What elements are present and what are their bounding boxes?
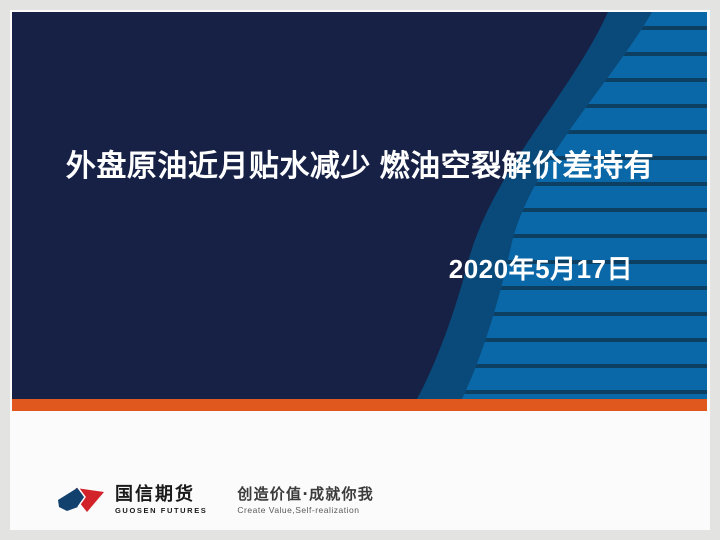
tagline-cn: 创造价值·成就你我 bbox=[237, 485, 374, 503]
footer-branding: 国信期货 GUOSEN FUTURES 创造价值·成就你我 Create Val… bbox=[56, 482, 374, 518]
accent-bar bbox=[12, 399, 707, 411]
decorative-curve-graphic bbox=[12, 12, 707, 399]
guosen-futures-logo-icon bbox=[56, 485, 106, 515]
company-wordmark: 国信期货 GUOSEN FUTURES bbox=[115, 485, 207, 516]
company-tagline: 创造价值·成就你我 Create Value,Self-realization bbox=[237, 485, 374, 516]
presentation-slide: 外盘原油近月贴水减少 燃油空裂解价差持有 2020年5月17日 国信期货 GUO… bbox=[0, 0, 720, 540]
slide-title: 外盘原油近月贴水减少 燃油空裂解价差持有 bbox=[0, 146, 720, 188]
slide-date: 2020年5月17日 bbox=[449, 252, 633, 286]
company-name-cn: 国信期货 bbox=[115, 485, 207, 505]
hero-panel bbox=[12, 12, 707, 399]
company-name-en: GUOSEN FUTURES bbox=[115, 506, 207, 516]
tagline-en: Create Value,Self-realization bbox=[237, 505, 374, 516]
